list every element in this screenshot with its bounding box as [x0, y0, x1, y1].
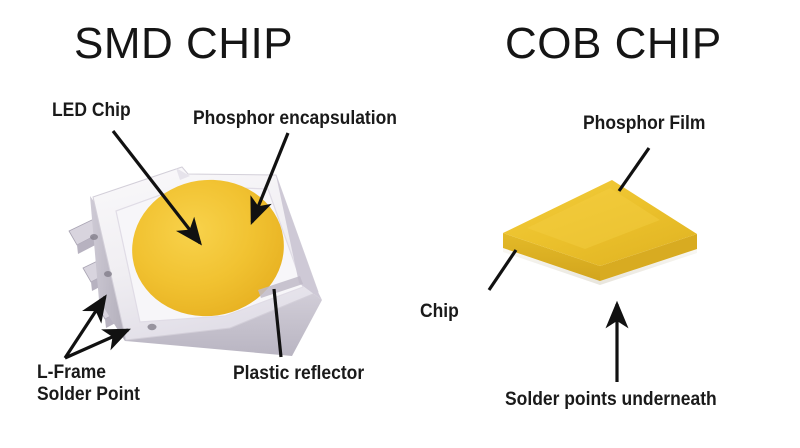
cob-substrate [503, 243, 697, 285]
smd-cavity-outline [116, 186, 303, 322]
smd-reflector-top-face [93, 167, 318, 340]
cob-film-front-right-face [600, 234, 697, 281]
arrow-phosphor-encapsulation [252, 133, 288, 222]
arrow-l-frame-upper [65, 297, 105, 358]
smd-corner-notch [176, 168, 190, 180]
led-chip-comparison-diagram: SMD CHIP COB CHIP LED Chip Phosphor enca… [0, 0, 800, 448]
leader-plastic-reflector [274, 289, 281, 357]
arrow-l-frame-lower [65, 330, 128, 358]
label-l-frame-solder-point: L-Frame Solder Point [37, 362, 140, 406]
label-l-frame-line2: Solder Point [37, 384, 140, 406]
smd-left-face [90, 196, 125, 341]
smd-chip-illustration [69, 167, 322, 356]
cob-film-highlight [527, 188, 660, 249]
label-chip: Chip [420, 302, 459, 323]
leader-chip [489, 250, 516, 290]
smd-lead-frame-tabs [69, 218, 133, 328]
cob-film-top-face [503, 180, 697, 266]
smd-phosphor-dome [123, 170, 292, 326]
label-led-chip: LED Chip [52, 101, 131, 122]
leader-phosphor-film [619, 148, 649, 191]
cob-arrows [489, 148, 649, 382]
label-l-frame-line1: L-Frame [37, 362, 140, 384]
smd-solder-dot-3 [148, 324, 157, 330]
smd-solder-dot-2 [104, 271, 112, 277]
smd-arrows [65, 131, 288, 358]
smd-right-bevel [276, 175, 322, 300]
label-plastic-reflector: Plastic reflector [233, 364, 364, 385]
label-solder-points-underneath: Solder points underneath [505, 390, 717, 411]
cob-film-front-left-face [503, 233, 600, 281]
label-phosphor-film: Phosphor Film [583, 114, 705, 135]
smd-right-notch [258, 276, 303, 298]
panel-title-smd: SMD CHIP [74, 22, 293, 66]
label-phosphor-encapsulation: Phosphor encapsulation [193, 109, 397, 130]
arrow-led-chip [113, 131, 200, 243]
smd-solder-dot-1 [90, 234, 98, 240]
panel-title-cob: COB CHIP [505, 22, 722, 66]
cob-chip-illustration [503, 180, 697, 285]
smd-front-face [99, 283, 322, 356]
